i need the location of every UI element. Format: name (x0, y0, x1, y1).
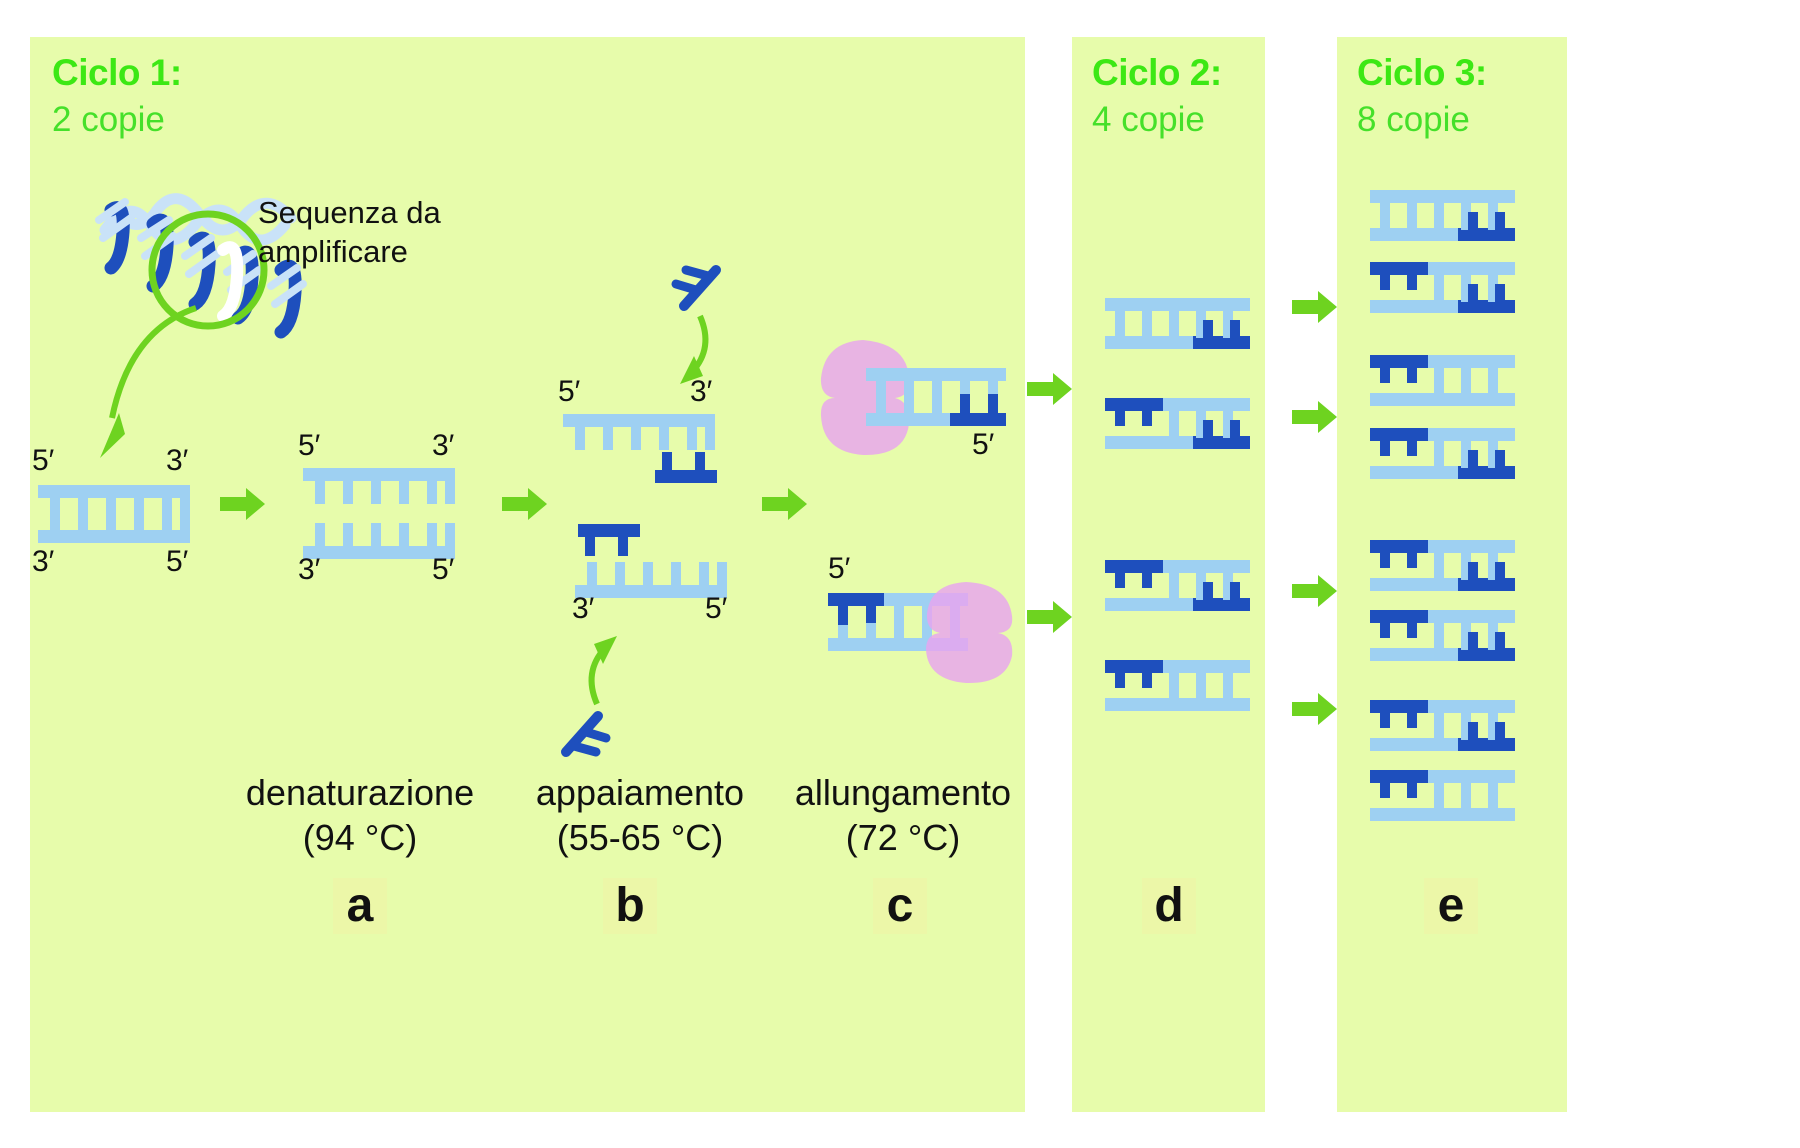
cycle2-duplex-3 (1105, 560, 1250, 610)
label-anneal-3prime-top: 3′ (690, 375, 712, 409)
arrow-right-icon (1025, 598, 1075, 638)
arrow-right-icon (1290, 572, 1340, 612)
arrow-right-icon (218, 485, 268, 525)
arrow-right-icon (500, 485, 550, 525)
cycle3-duplex-2 (1370, 262, 1515, 312)
label-denat-5prime-bottom: 5′ (432, 553, 454, 587)
label-template-3prime-left: 3′ (32, 545, 54, 579)
arrow-right-icon (1290, 288, 1340, 328)
cycle-1-title: Ciclo 1: (52, 52, 182, 94)
cycle-1-subtitle: 2 copie (52, 100, 165, 140)
label-template-5prime-left: 5′ (32, 444, 54, 478)
anneal-template-top (563, 414, 715, 450)
label-denat-3prime-top: 3′ (432, 429, 454, 463)
step-c-badge: c (873, 878, 927, 934)
cycle-3-subtitle: 8 copie (1357, 100, 1470, 140)
label-denat-5prime-top: 5′ (298, 429, 320, 463)
arrow-right-icon (1290, 690, 1340, 730)
template-duplex (38, 485, 190, 543)
primer-icon (550, 700, 610, 760)
label-extend-5prime-top: 5′ (972, 428, 994, 462)
cycle3-duplex-6 (1370, 610, 1515, 660)
cycle-3-title: Ciclo 3: (1357, 52, 1487, 94)
denatured-strand-top (303, 468, 455, 504)
label-anneal-5prime-bottom: 5′ (705, 592, 727, 626)
callout-curve (86, 300, 216, 465)
extend-duplex-top (866, 368, 1006, 426)
step-b-badge: b (603, 878, 657, 934)
cycle2-duplex-2 (1105, 398, 1250, 448)
label-denat-3prime-bottom: 3′ (298, 553, 320, 587)
arrow-right-icon (1025, 370, 1075, 410)
anneal-primer-top (655, 452, 717, 484)
cycle3-duplex-5 (1370, 540, 1515, 590)
step-a-badge: a (333, 878, 387, 934)
cycle3-duplex-8 (1370, 770, 1515, 820)
cycle-2-subtitle: 4 copie (1092, 100, 1205, 140)
arrow-right-icon (1290, 398, 1340, 438)
label-template-5prime-right: 5′ (166, 545, 188, 579)
label-template-3prime-right: 3′ (166, 444, 188, 478)
step-c-temperature: (72 °C) (733, 817, 1073, 859)
step-c-name: allungamento (733, 772, 1073, 814)
cycle3-duplex-3 (1370, 355, 1515, 405)
cycle2-duplex-1 (1105, 298, 1250, 348)
step-d-badge: d (1142, 878, 1196, 934)
cycle2-duplex-4 (1105, 660, 1250, 710)
arrow-right-icon (760, 485, 810, 525)
cycle3-duplex-1 (1370, 190, 1515, 240)
anneal-primer-bottom (578, 524, 640, 556)
cycle3-duplex-7 (1370, 700, 1515, 750)
curved-arrow-icon (575, 630, 655, 710)
step-e-badge: e (1424, 878, 1478, 934)
label-anneal-5prime-top: 5′ (558, 375, 580, 409)
callout-line-1: Sequenza da (258, 193, 441, 233)
label-extend-5prime-bottom: 5′ (828, 552, 850, 586)
cycle-2-title: Ciclo 2: (1092, 52, 1222, 94)
callout-line-2: amplificare (258, 232, 408, 272)
cycle3-duplex-4 (1370, 428, 1515, 478)
label-anneal-3prime-bottom: 3′ (572, 592, 594, 626)
polymerase-blob-icon (920, 580, 1025, 685)
